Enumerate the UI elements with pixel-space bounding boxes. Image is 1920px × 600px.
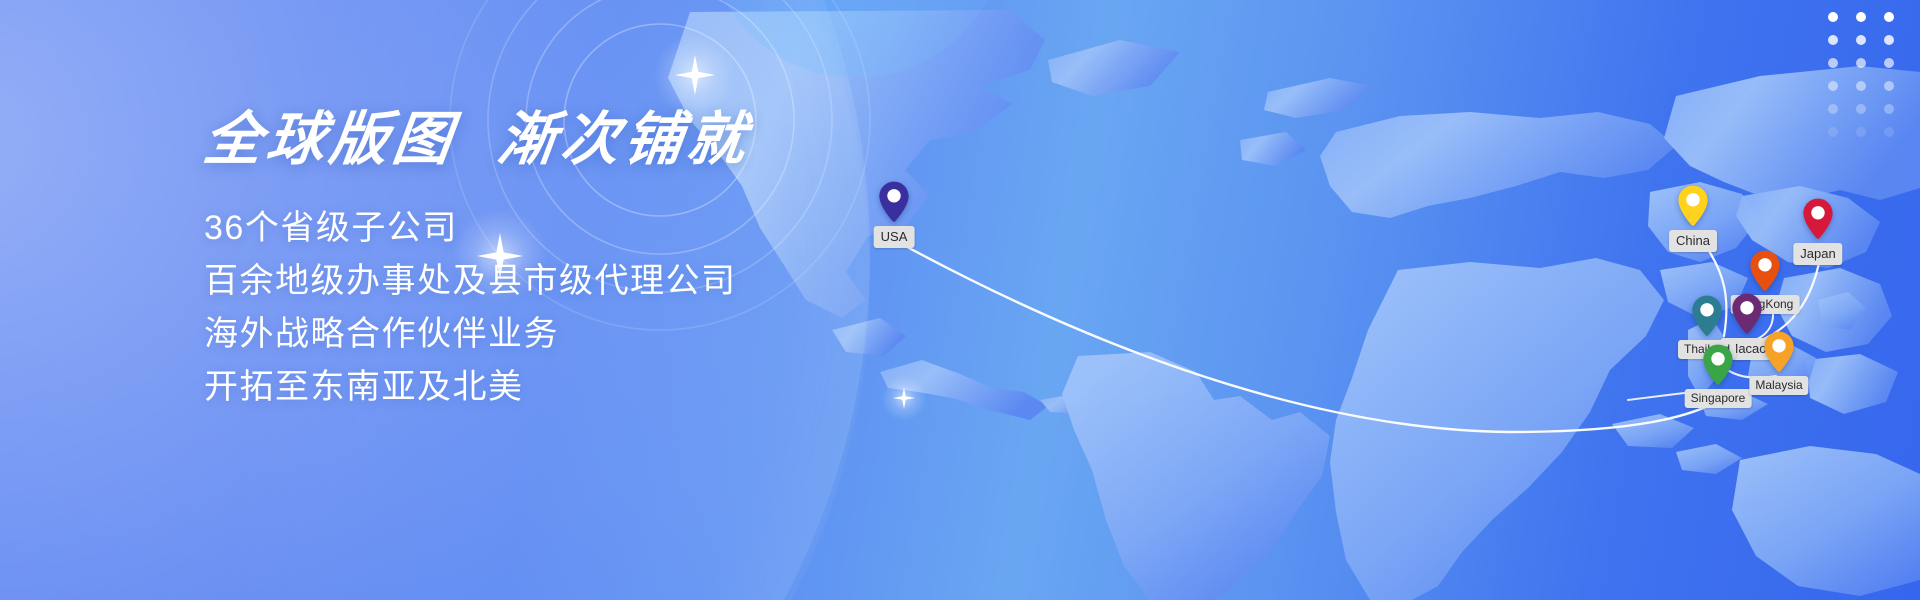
dot-grid-icon <box>1828 12 1894 137</box>
grid-dot <box>1856 58 1866 68</box>
grid-dot <box>1828 104 1838 114</box>
map-marker-label: USA <box>874 226 915 248</box>
grid-dot <box>1884 35 1894 45</box>
grid-dot <box>1828 127 1838 137</box>
map-marker-label: Singapore <box>1685 389 1752 408</box>
map-marker-japan[interactable]: Japan <box>1801 197 1835 243</box>
landmass-south-america <box>1062 352 1330 600</box>
landmass-europe <box>1240 78 1676 218</box>
map-marker-label: Japan <box>1793 243 1842 265</box>
landmass-africa <box>1330 258 1664 600</box>
grid-dot <box>1856 35 1866 45</box>
subtitle-line-4: 开拓至东南亚及北美 <box>204 361 964 414</box>
grid-dot <box>1884 104 1894 114</box>
map-marker-malaysia[interactable]: Malaysia <box>1762 330 1796 376</box>
map-marker-singapore[interactable]: Singapore <box>1701 343 1735 389</box>
subtitle-line-2: 百余地级办事处及县市级代理公司 <box>204 255 964 308</box>
map-marker-usa[interactable]: USA <box>877 180 911 226</box>
map-pin-icon <box>1801 197 1835 241</box>
map-marker-label: China <box>1669 230 1717 252</box>
map-pin-icon <box>1730 292 1764 336</box>
page-title: 全球版图 渐次铺就 <box>200 108 968 172</box>
banner-copy: 全球版图 渐次铺就 36个省级子公司 百余地级办事处及县市级代理公司 海外战略合… <box>204 108 964 414</box>
map-pin-icon <box>1676 184 1710 228</box>
map-marker-china[interactable]: China <box>1676 184 1710 230</box>
map-pin-icon <box>1701 343 1735 387</box>
grid-dot <box>1828 35 1838 45</box>
map-pin-icon <box>1762 330 1796 374</box>
grid-dot <box>1828 58 1838 68</box>
map-marker-macao[interactable]: Macao <box>1730 292 1764 338</box>
map-marker-hongkong[interactable]: HongKong <box>1748 249 1782 295</box>
grid-dot <box>1856 12 1866 22</box>
global-map-banner: 全球版图 渐次铺就 36个省级子公司 百余地级办事处及县市级代理公司 海外战略合… <box>0 0 1920 600</box>
subtitle-line-1: 36个省级子公司 <box>204 202 964 255</box>
map-pin-icon <box>1748 249 1782 293</box>
grid-dot <box>1856 104 1866 114</box>
grid-dot <box>1856 127 1866 137</box>
grid-dot <box>1884 12 1894 22</box>
grid-dot <box>1884 58 1894 68</box>
grid-dot <box>1828 12 1838 22</box>
map-pin-icon <box>1690 294 1724 338</box>
grid-dot <box>1828 81 1838 91</box>
map-marker-label: Malaysia <box>1749 376 1808 395</box>
map-marker-thailand[interactable]: Thailand <box>1690 294 1724 340</box>
grid-dot <box>1884 81 1894 91</box>
grid-dot <box>1856 81 1866 91</box>
subtitle-list: 36个省级子公司 百余地级办事处及县市级代理公司 海外战略合作伙伴业务 开拓至东… <box>204 202 964 414</box>
map-pin-icon <box>877 180 911 224</box>
landmass-oceania <box>1612 414 1920 596</box>
subtitle-line-3: 海外战略合作伙伴业务 <box>204 308 964 361</box>
grid-dot <box>1884 127 1894 137</box>
